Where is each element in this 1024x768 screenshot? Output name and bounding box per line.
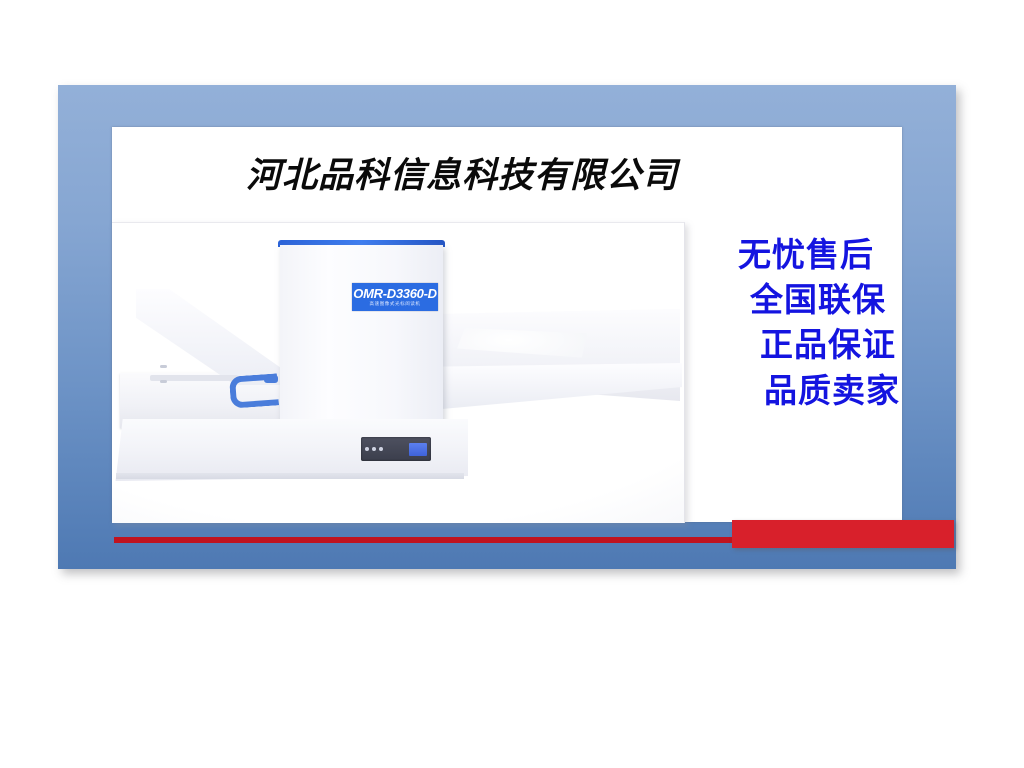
output-tray-arm-icon xyxy=(420,363,682,411)
control-panel-display-icon xyxy=(409,443,427,456)
product-photo-backdrop: OMR-D3360-D 高速图像式光标阅读机 xyxy=(112,223,684,523)
slogan-line-4: 品质卖家 xyxy=(704,368,900,413)
input-tray-marker-bottom-icon xyxy=(160,380,167,383)
slogan-line-2: 全国联保 xyxy=(704,277,900,322)
red-accent-thick-bar xyxy=(732,520,954,548)
led-indicator-icon xyxy=(365,447,369,451)
slogan-line-3: 正品保证 xyxy=(704,322,900,367)
product-model-text: OMR-D3360-D xyxy=(353,287,436,300)
control-panel-leds-icon xyxy=(365,447,383,451)
input-tray-marker-top-icon xyxy=(160,365,167,368)
scanner-control-panel-icon xyxy=(361,437,431,461)
led-indicator-icon xyxy=(372,447,376,451)
page-title: 河北品科信息科技有限公司 xyxy=(112,147,812,198)
product-model-plate: OMR-D3360-D 高速图像式光标阅读机 xyxy=(352,283,438,311)
product-model-subtext: 高速图像式光标阅读机 xyxy=(370,302,421,307)
led-indicator-icon xyxy=(379,447,383,451)
omr-scanner-illustration: OMR-D3360-D 高速图像式光标阅读机 xyxy=(112,223,684,523)
slogan-line-1: 无忧售后 xyxy=(704,232,900,277)
slogan-list: 无忧售后 全国联保 正品保证 品质卖家 xyxy=(704,232,900,413)
product-photo-card: OMR-D3360-D 高速图像式光标阅读机 xyxy=(112,222,685,523)
white-content-panel: 河北品科信息科技有限公司 品科 xyxy=(112,127,902,522)
input-tray-arm-icon xyxy=(136,289,286,385)
scanner-head-unit-icon xyxy=(280,245,443,423)
banner-canvas: 河北品科信息科技有限公司 品科 xyxy=(0,0,1024,768)
scanner-base-edge-icon xyxy=(116,473,464,479)
outer-blue-frame: 河北品科信息科技有限公司 品科 xyxy=(58,85,956,569)
paper-lever-tip-icon xyxy=(264,375,278,383)
